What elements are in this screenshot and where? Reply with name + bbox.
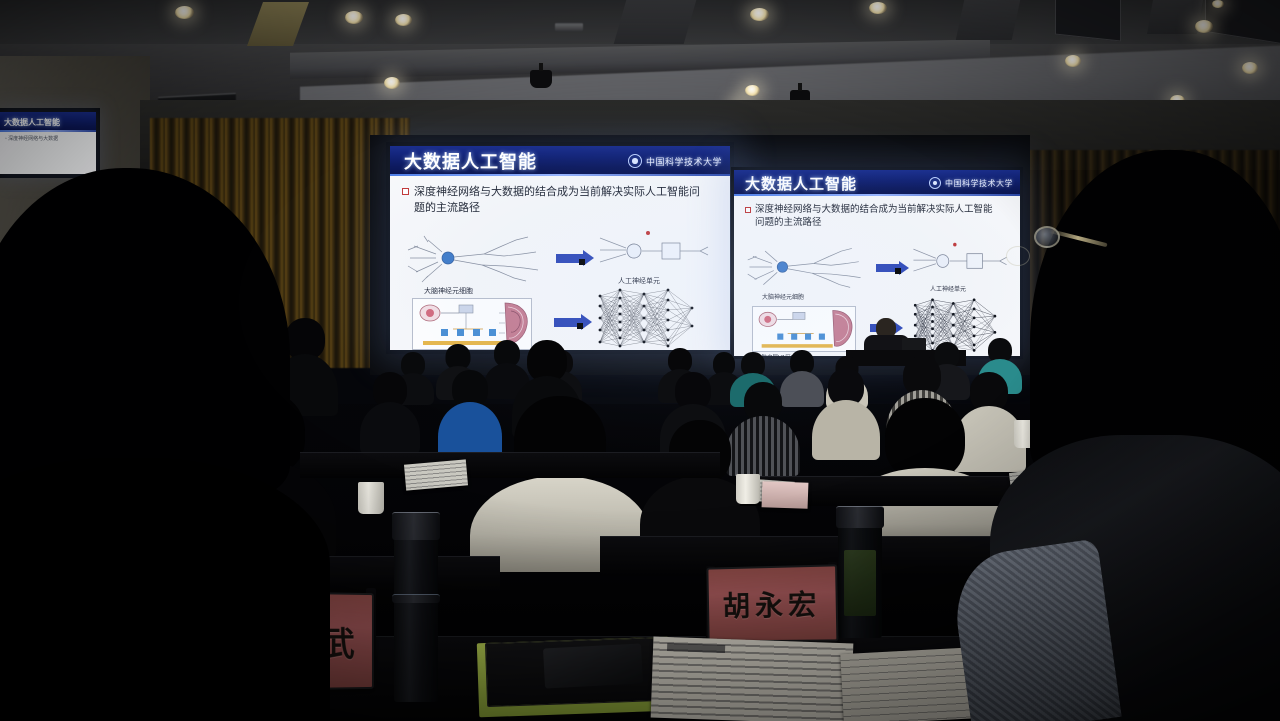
tea-tumbler-right bbox=[838, 506, 882, 638]
downlight-9 bbox=[1195, 20, 1213, 33]
foreground-head-right bbox=[1030, 150, 1280, 480]
figure-visual-pathway-right bbox=[752, 306, 856, 352]
eyeglasses-lens-icon bbox=[1034, 226, 1060, 248]
nameplate-right[interactable]: 胡永宏 bbox=[706, 564, 838, 642]
slide-bullet-right: 深度神经网络与大数据的结合成为当前解决实际人工智能问题的主流路径 bbox=[743, 203, 1011, 230]
conference-hall-scene: 大数据人工智能 ▫ 深度神经网络与大数据 大数据人工智能 中国科学技术大学 深度… bbox=[0, 0, 1280, 721]
slide-body-text-left-far: ▫ 深度神经网络与大数据 bbox=[5, 136, 91, 143]
foreground-shoulders-left bbox=[0, 458, 330, 721]
downlight-8 bbox=[1065, 55, 1081, 67]
nameplate-right-text: 胡永宏 bbox=[722, 583, 821, 625]
screen-main-left: 大数据人工智能 中国科学技术大学 深度神经网络与大数据的结合成为当前解决实际人工… bbox=[390, 146, 730, 350]
arrow-neuron-to-unit-left bbox=[556, 254, 584, 263]
ustc-logo-icon bbox=[628, 154, 642, 168]
caption-artificial-neuron-left: 人工神经单元 bbox=[618, 276, 660, 286]
figure-artificial-neuron-right bbox=[910, 240, 1010, 282]
foreground-head-left bbox=[0, 168, 290, 498]
desk-row-back bbox=[300, 452, 720, 478]
thermos-lid-left bbox=[392, 512, 440, 540]
ustc-logo-left: 中国科学技术大学 bbox=[628, 154, 722, 168]
square-bullet-icon-right bbox=[745, 207, 751, 213]
downlight-2 bbox=[345, 11, 363, 24]
smartphone[interactable] bbox=[543, 643, 643, 688]
thermos-flask-left bbox=[394, 512, 438, 702]
tumbler-lid-right bbox=[836, 506, 884, 528]
hvac-vent-4 bbox=[555, 23, 583, 31]
ceiling-beam-2 bbox=[956, 0, 1021, 40]
caption-biological-neuron-right: 大脑神经元细胞 bbox=[762, 292, 804, 301]
slide-body-left: 深度神经网络与大数据的结合成为当前解决实际人工智能问题的主流路径 大 bbox=[390, 176, 730, 350]
audience-person-m2 bbox=[360, 372, 420, 452]
ceiling-beam-1 bbox=[614, 0, 697, 44]
ceiling-beam-3 bbox=[1147, 0, 1203, 34]
slide-bullet-left: 深度神经网络与大数据的结合成为当前解决实际人工智能问题的主流路径 bbox=[400, 184, 720, 215]
caption-artificial-neuron-right: 人工神经单元 bbox=[930, 284, 966, 293]
slide-bullet-text-left: 深度神经网络与大数据的结合成为当前解决实际人工智能问题的主流路径 bbox=[414, 184, 706, 215]
downlight-5 bbox=[395, 14, 412, 26]
caption-biological-neuron-left: 大脑神经元细胞 bbox=[424, 286, 473, 296]
slide-title-bar-right: 大数据人工智能 中国科学技术大学 bbox=[734, 170, 1020, 196]
paper-lines bbox=[404, 459, 468, 490]
figure-biological-neuron-right bbox=[746, 244, 864, 290]
figure-deep-neural-network-left bbox=[594, 288, 714, 350]
thermos-band-left bbox=[392, 594, 440, 603]
arrow-neuron-to-unit-right bbox=[876, 264, 900, 272]
slide-title-right: 大数据人工智能 bbox=[745, 173, 857, 194]
downlight-19 bbox=[1212, 0, 1224, 8]
figure-artificial-neuron-left bbox=[596, 228, 712, 274]
track-spotlight-1 bbox=[530, 70, 552, 88]
slide-bullet-text-right: 深度神经网络与大数据的结合成为当前解决实际人工智能问题的主流路径 bbox=[755, 203, 1001, 230]
downlight-10 bbox=[1242, 62, 1258, 74]
shoulders bbox=[360, 402, 420, 454]
foreground-person-left bbox=[0, 168, 290, 721]
arrow-cortex-to-dnn-left bbox=[554, 318, 582, 327]
figure-biological-neuron-left bbox=[406, 232, 542, 284]
handout-paper-1 bbox=[404, 459, 468, 490]
open-document-foreground[interactable] bbox=[651, 637, 854, 721]
slide-title-left-far: 大数据人工智能 bbox=[4, 117, 60, 128]
tissue-box bbox=[762, 481, 809, 509]
ceiling-monitor bbox=[1055, 0, 1121, 41]
slide-title-bar-left: 大数据人工智能 中国科学技术大学 bbox=[390, 146, 730, 176]
square-bullet-icon bbox=[402, 188, 409, 195]
paper-cup-2 bbox=[736, 474, 760, 504]
slide-title-left: 大数据人工智能 bbox=[404, 148, 537, 174]
eyeglasses-lens2-icon bbox=[1006, 246, 1030, 266]
downlight-3 bbox=[384, 77, 400, 89]
downlight-6 bbox=[750, 8, 769, 21]
screen-left-far: 大数据人工智能 ▫ 深度神经网络与大数据 bbox=[0, 112, 96, 174]
downlight-1 bbox=[175, 6, 194, 19]
downlight-15 bbox=[745, 85, 760, 96]
ustc-logo-text: 中国科学技术大学 bbox=[646, 155, 722, 168]
ustc-logo-icon-right bbox=[929, 177, 941, 189]
tea-leaves bbox=[844, 550, 876, 616]
downlight-7 bbox=[869, 2, 887, 14]
paper-cup-1 bbox=[358, 482, 384, 514]
